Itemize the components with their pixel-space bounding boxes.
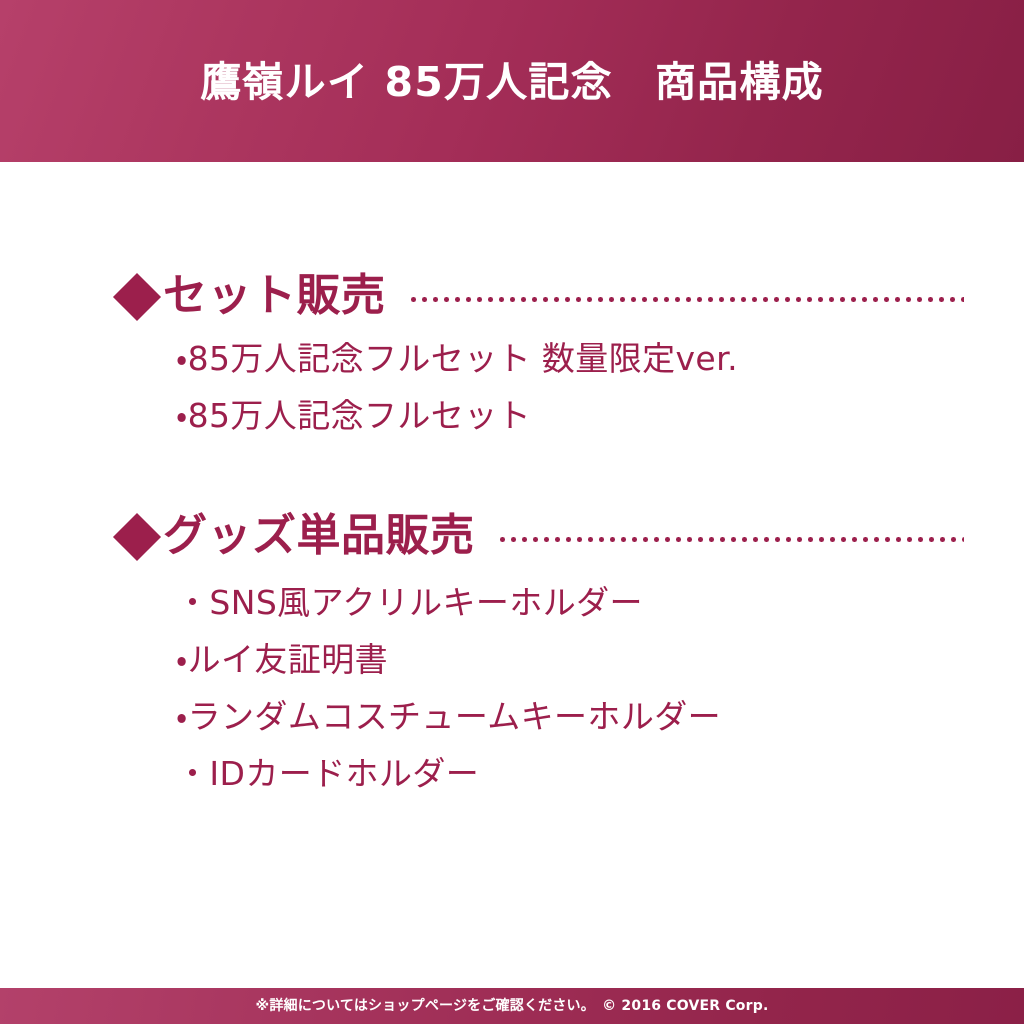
page-title: 鷹嶺ルイ 85万人記念 商品構成: [180, 60, 844, 105]
list-item: ・ルイ友証明書: [176, 643, 1024, 676]
dotted-rule: [497, 537, 965, 542]
list-item: ・ランダムコスチュームキーホルダー: [176, 700, 1024, 733]
diamond-icon: [113, 513, 161, 561]
section-header-single-goods-sales: グッズ単品販売: [0, 514, 1024, 558]
list-item: ・85万人記念フルセット: [176, 399, 1024, 432]
footer-banner: ※詳細についてはショップページをご確認ください。 © 2016 COVER Co…: [0, 988, 1024, 1024]
section-title-single-goods-sales: グッズ単品販売: [163, 514, 475, 558]
list-item: ・85万人記念フルセット 数量限定ver.: [176, 342, 1024, 375]
item-list-set-sales: ・85万人記念フルセット 数量限定ver. ・85万人記念フルセット: [0, 318, 1024, 432]
list-item: ・IDカードホルダー: [176, 757, 1024, 790]
main-content: セット販売 ・85万人記念フルセット 数量限定ver. ・85万人記念フルセット…: [0, 162, 1024, 988]
footer-copyright: © 2016 COVER Corp.: [602, 999, 768, 1013]
section-title-set-sales: セット販売: [163, 274, 386, 318]
section-header-set-sales: セット販売: [0, 274, 1024, 318]
dotted-rule: [408, 297, 965, 302]
product-lineup-page: 鷹嶺ルイ 85万人記念 商品構成 セット販売 ・85万人記念フルセット 数量限定…: [0, 0, 1024, 1024]
item-list-single-goods-sales: ・SNS風アクリルキーホルダー ・ルイ友証明書 ・ランダムコスチュームキーホルダ…: [0, 558, 1024, 790]
section-set-sales: セット販売 ・85万人記念フルセット 数量限定ver. ・85万人記念フルセット: [0, 274, 1024, 456]
diamond-icon: [113, 273, 161, 321]
list-item: ・SNS風アクリルキーホルダー: [176, 586, 1024, 619]
header-banner: 鷹嶺ルイ 85万人記念 商品構成: [0, 0, 1024, 162]
footer-note: ※詳細についてはショップページをご確認ください。: [256, 999, 603, 1013]
section-single-goods-sales: グッズ単品販売 ・SNS風アクリルキーホルダー ・ルイ友証明書 ・ランダムコスチ…: [0, 514, 1024, 814]
